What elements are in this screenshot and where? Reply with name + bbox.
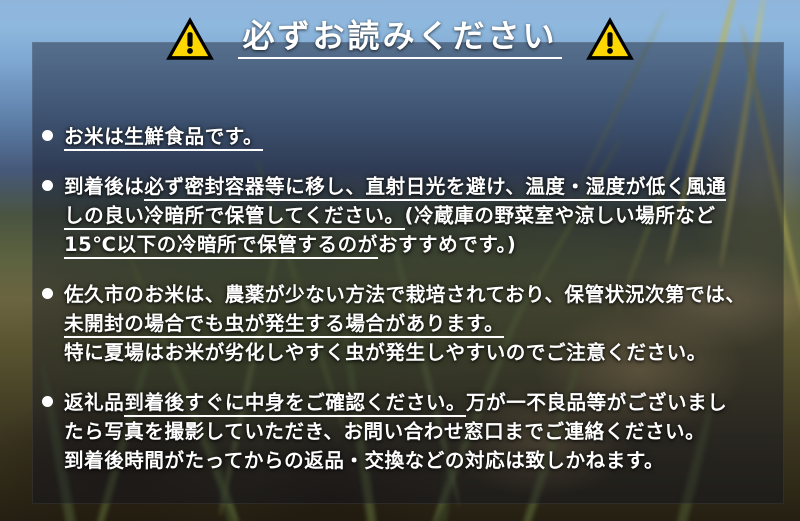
bullet-icon <box>42 130 53 141</box>
bullet-icon <box>42 180 53 191</box>
warning-triangle-icon-left <box>164 15 216 63</box>
bullet-icon <box>42 396 53 407</box>
notice-line: 返礼品到着後すぐに中身をご確認ください。万が一不良品等がございまし <box>64 388 772 417</box>
notice-line: 未開封の場合でも虫が発生する場合があります。 <box>64 309 772 338</box>
notice-item: 返礼品到着後すぐに中身をご確認ください。万が一不良品等がございましたら写真を撮影… <box>42 388 772 475</box>
notice-line: 特に夏場はお米が劣化しやすく虫が発生しやすいのでご注意ください。 <box>64 338 772 367</box>
notice-header: 必ずお読みください <box>0 0 800 78</box>
notice-list: お米は生鮮食品です。到着後は必ず密封容器等に移し、直射日光を避け、温度・湿度が低… <box>42 122 772 475</box>
notice-text-underlined: 必ず密封容器等に移し、直射日光を避け、温度・湿度が低く風通 <box>144 175 726 201</box>
notice-text: たら写真を撮影していただき、お問い合わせ窓口までご連絡ください。 <box>64 420 705 443</box>
notice-text: 特に夏場はお米が劣化しやすく虫が発生しやすいのでご注意ください。 <box>64 341 707 364</box>
notice-item: 到着後は必ず密封容器等に移し、直射日光を避け、温度・湿度が低く風通しの良い冷暗所… <box>42 172 772 259</box>
notice-line: お米は生鮮食品です。 <box>64 122 772 151</box>
notice-text: 返礼品 <box>64 391 124 414</box>
notice-line: 佐久市のお米は、農薬が少ない方法で栽培されており、保管状況次第では、 <box>64 280 772 309</box>
notice-line: たら写真を撮影していただき、お問い合わせ窓口までご連絡ください。 <box>64 417 772 446</box>
warning-triangle-icon-right <box>584 15 636 63</box>
notice-text: 到着後は <box>64 175 144 198</box>
notice-text: 到着後時間がたってからの返品・交換などの対応は致しかねます。 <box>64 449 664 472</box>
notice-line: 15℃以下の冷暗所で保管するのがおすすめです。) <box>64 230 772 259</box>
notice-item-lines: 返礼品到着後すぐに中身をご確認ください。万が一不良品等がございましたら写真を撮影… <box>64 388 772 475</box>
notice-text: (冷蔵庫の野菜室や涼しい場所など <box>405 204 716 227</box>
notice-line: しの良い冷暗所で保管してください。(冷蔵庫の野菜室や涼しい場所など <box>64 201 772 230</box>
notice-title-wrap: 必ずお読みください <box>242 20 557 59</box>
notice-text-underlined: 到着後すぐに中身をご確認ください。 <box>124 391 466 417</box>
notice-text-underlined: しの良い冷暗所で保管してください。 <box>64 204 405 230</box>
notice-text: 佐久市のお米は、農薬が少ない方法で栽培されており、保管状況次第では、 <box>64 283 745 306</box>
title-underline <box>238 57 561 59</box>
notice-text: 万が一不良品等がございまし <box>466 391 727 414</box>
notice-banner: 必ずお読みください お米は生鮮食品です。到着後は必ず密封容器等に移し、直射日光を… <box>0 0 800 521</box>
notice-text-underlined: お米は生鮮食品です。 <box>64 125 263 151</box>
notice-item-lines: お米は生鮮食品です。 <box>64 122 772 151</box>
notice-text: おすすめです。) <box>378 233 517 256</box>
notice-item-lines: 佐久市のお米は、農薬が少ない方法で栽培されており、保管状況次第では、未開封の場合… <box>64 280 772 367</box>
notice-line: 到着後は必ず密封容器等に移し、直射日光を避け、温度・湿度が低く風通 <box>64 172 772 201</box>
page-title: 必ずお読みください <box>242 20 557 52</box>
notice-item-lines: 到着後は必ず密封容器等に移し、直射日光を避け、温度・湿度が低く風通しの良い冷暗所… <box>64 172 772 259</box>
notice-text-underlined: 未開封の場合でも虫が発生する場合があります。 <box>64 312 504 338</box>
bullet-icon <box>42 288 53 299</box>
notice-item: お米は生鮮食品です。 <box>42 122 772 151</box>
notice-item: 佐久市のお米は、農薬が少ない方法で栽培されており、保管状況次第では、未開封の場合… <box>42 280 772 367</box>
notice-line: 到着後時間がたってからの返品・交換などの対応は致しかねます。 <box>64 446 772 475</box>
notice-text-underlined: 15℃以下の冷暗所で保管するのが <box>64 233 378 259</box>
